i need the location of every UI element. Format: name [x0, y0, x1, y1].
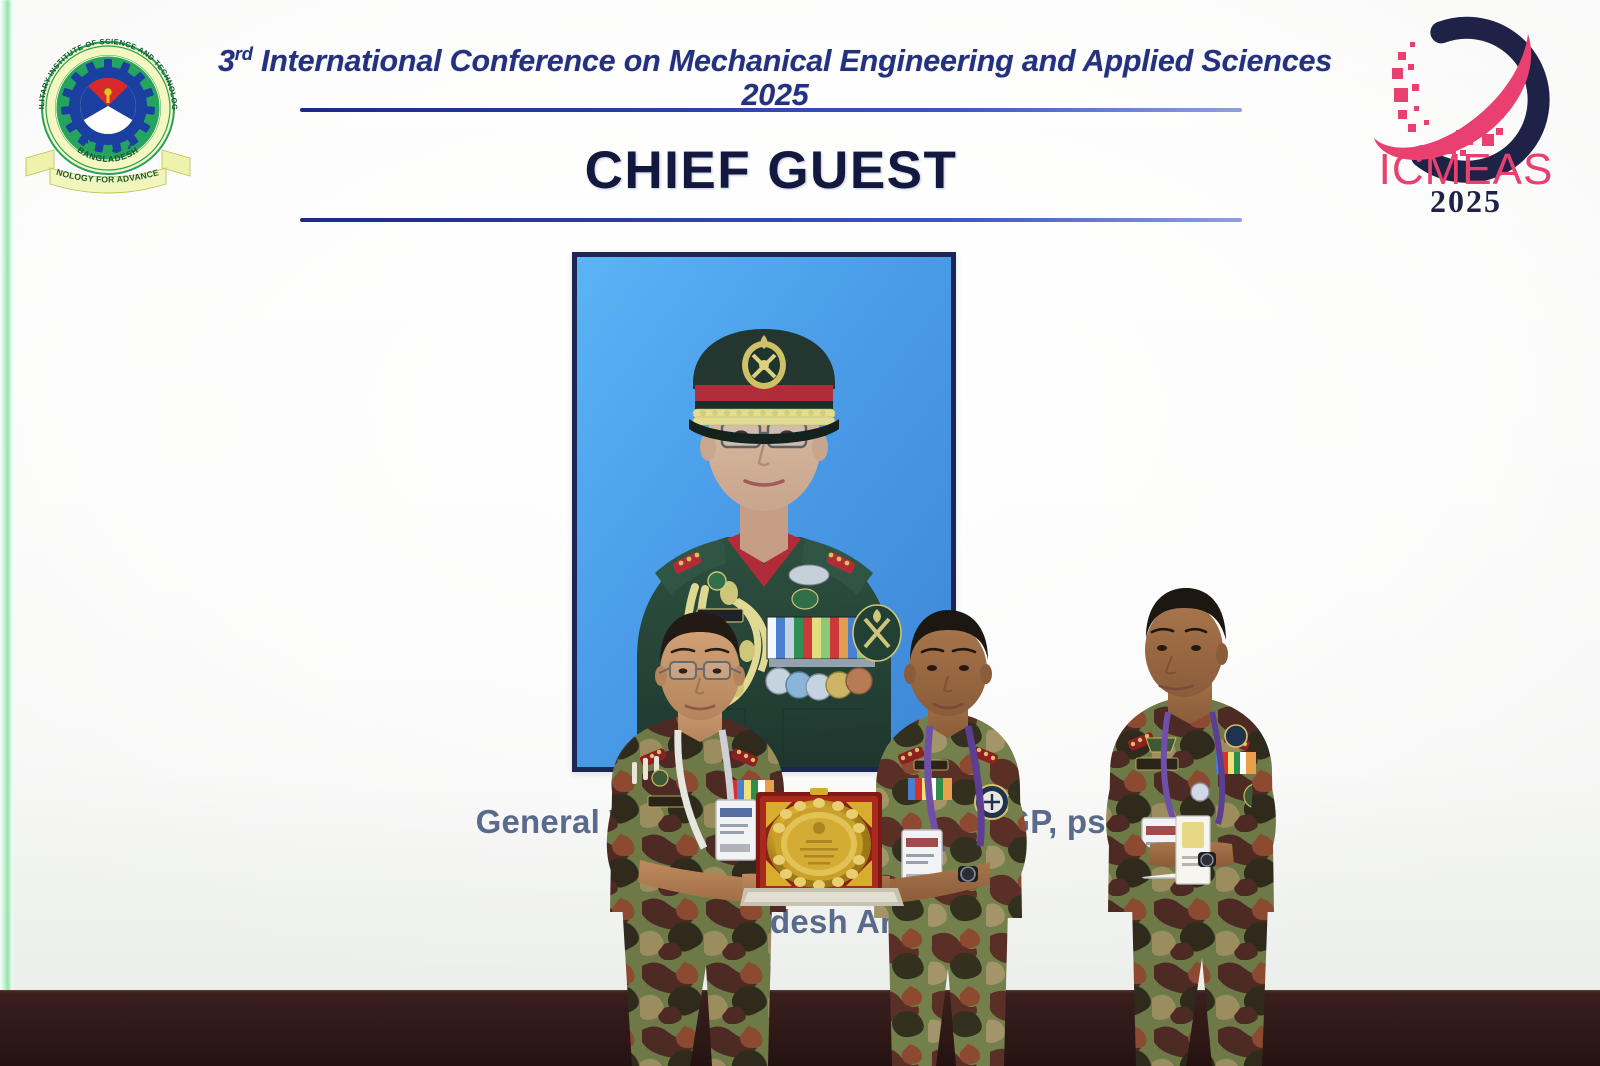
icmeas-logo: ICMEAS 2025 — [1348, 12, 1584, 220]
divider-rule-top — [300, 108, 1242, 112]
mist-logo: MILITARY INSTITUTE OF SCIENCE AND TECHNO… — [24, 8, 192, 204]
stage-floor — [0, 990, 1600, 1066]
icmeas-year: 2025 — [1430, 183, 1502, 219]
screen-edge-green-left — [0, 0, 13, 992]
divider-rule-bottom — [300, 218, 1242, 222]
icmeas-pixels-left — [1392, 42, 1429, 132]
chief-guest-portrait — [572, 252, 956, 772]
guest-organization: Bangladesh Army — [180, 903, 1420, 941]
conference-title: 3rd International Conference on Mechanic… — [190, 44, 1360, 112]
section-heading: CHIEF GUEST — [300, 140, 1242, 201]
guest-name: General Waker-Uz-Zaman, OSP, SGP, psc — [180, 803, 1420, 841]
conference-photo-scene: MILITARY INSTITUTE OF SCIENCE AND TECHNO… — [0, 0, 1600, 1066]
